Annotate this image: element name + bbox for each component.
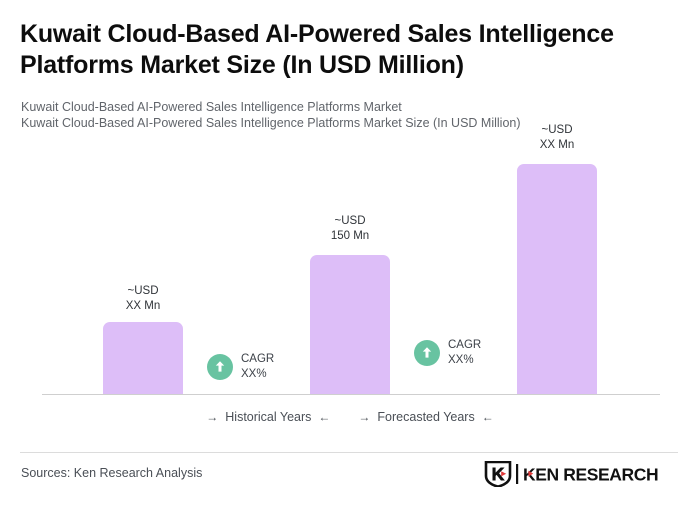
chart-legend: → Historical Years ← → Forecasted Years … [0, 410, 700, 424]
arrow-right-icon: → [358, 411, 370, 423]
ken-research-logo: KEN RESEARCH [483, 461, 669, 487]
bar-1[interactable] [103, 322, 183, 394]
x-axis-line [42, 394, 660, 395]
sources-text: Sources: Ken Research Analysis [21, 466, 202, 480]
svg-text:KEN RESEARCH: KEN RESEARCH [523, 464, 658, 484]
cagr-annotation-1-line1: CAGR [241, 352, 274, 367]
bar-3[interactable] [517, 164, 597, 394]
footer-divider [20, 452, 678, 453]
bar-value-label-2: ~USD 150 Mn [290, 214, 410, 243]
bar-value-label-1: ~USD XX Mn [83, 284, 203, 313]
arrow-left-icon: ← [482, 411, 494, 423]
chart-page: Kuwait Cloud-Based AI-Powered Sales Inte… [0, 0, 700, 520]
cagr-annotation-1: CAGR XX% [207, 352, 274, 381]
arrow-left-icon: ← [318, 411, 330, 423]
bar-chart: ~USD XX Mn ~USD 150 Mn ~USD XX Mn CAGR X… [0, 0, 700, 400]
arrow-right-icon: → [206, 411, 218, 423]
bar-value-label-1-line2: XX Mn [83, 299, 203, 314]
bar-value-label-3-line1: ~USD [497, 123, 617, 138]
arrow-up-icon [207, 354, 233, 380]
bar-value-label-1-line1: ~USD [83, 284, 203, 299]
legend-item-forecasted-years: → Forecasted Years ← [358, 410, 493, 424]
cagr-annotation-2-text: CAGR XX% [448, 338, 481, 367]
cagr-annotation-2-line2: XX% [448, 353, 481, 368]
bar-value-label-3: ~USD XX Mn [497, 123, 617, 152]
bar-2[interactable] [310, 255, 390, 394]
cagr-annotation-1-line2: XX% [241, 367, 274, 382]
cagr-annotation-2: CAGR XX% [414, 338, 481, 367]
legend-item-historical-years: → Historical Years ← [206, 410, 330, 424]
cagr-annotation-2-line1: CAGR [448, 338, 481, 353]
legend-item-historical-years-label: Historical Years [225, 410, 311, 424]
cagr-annotation-1-text: CAGR XX% [241, 352, 274, 381]
bar-value-label-2-line2: 150 Mn [290, 229, 410, 244]
bar-value-label-3-line2: XX Mn [497, 138, 617, 153]
bar-value-label-2-line1: ~USD [290, 214, 410, 229]
legend-item-forecasted-years-label: Forecasted Years [377, 410, 474, 424]
arrow-up-icon [414, 340, 440, 366]
